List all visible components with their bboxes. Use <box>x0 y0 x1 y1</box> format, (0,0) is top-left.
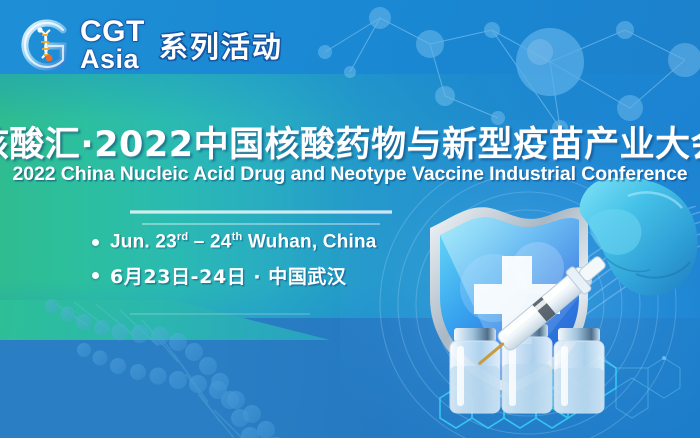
bullet-dot-icon <box>92 272 99 279</box>
event-details-list: Jun. 23rd – 24th Wuhan, China 6月23日-24日·… <box>92 231 377 298</box>
list-item: Jun. 23rd – 24th Wuhan, China <box>92 231 377 253</box>
logo-line-cgt: CGT <box>80 18 145 46</box>
page-title-english: 2022 China Nucleic Acid Drug and Neotype… <box>13 163 688 186</box>
cgt-asia-dna-g-logo-icon <box>16 14 78 76</box>
glove-thumb <box>589 209 641 255</box>
conference-banner: CGT Asia 系列活动 核酸汇·2022中国核酸药物与新型疫苗产业大会 20… <box>0 0 700 438</box>
date-location-en: Jun. 23rd – 24th Wuhan, China <box>110 231 377 253</box>
bullet-dot-icon <box>92 239 99 246</box>
vaccine-vial-1 <box>450 328 500 413</box>
date-location-cn: 6月23日-24日·中国武汉 <box>110 262 347 289</box>
logo-line-asia: Asia <box>80 47 145 72</box>
vaccine-artwork <box>390 178 700 438</box>
vaccine-vial-3 <box>554 328 604 413</box>
logo[interactable]: CGT Asia 系列活动 <box>16 14 283 76</box>
dna-helix-watermark <box>22 296 352 438</box>
page-title-chinese: 核酸汇·2022中国核酸药物与新型疫苗产业大会 <box>0 116 700 167</box>
logo-wordmark: CGT Asia <box>80 18 145 71</box>
list-item: 6月23日-24日·中国武汉 <box>92 262 377 289</box>
gloved-hand <box>580 178 698 296</box>
logo-chinese-suffix: 系列活动 <box>159 24 283 66</box>
